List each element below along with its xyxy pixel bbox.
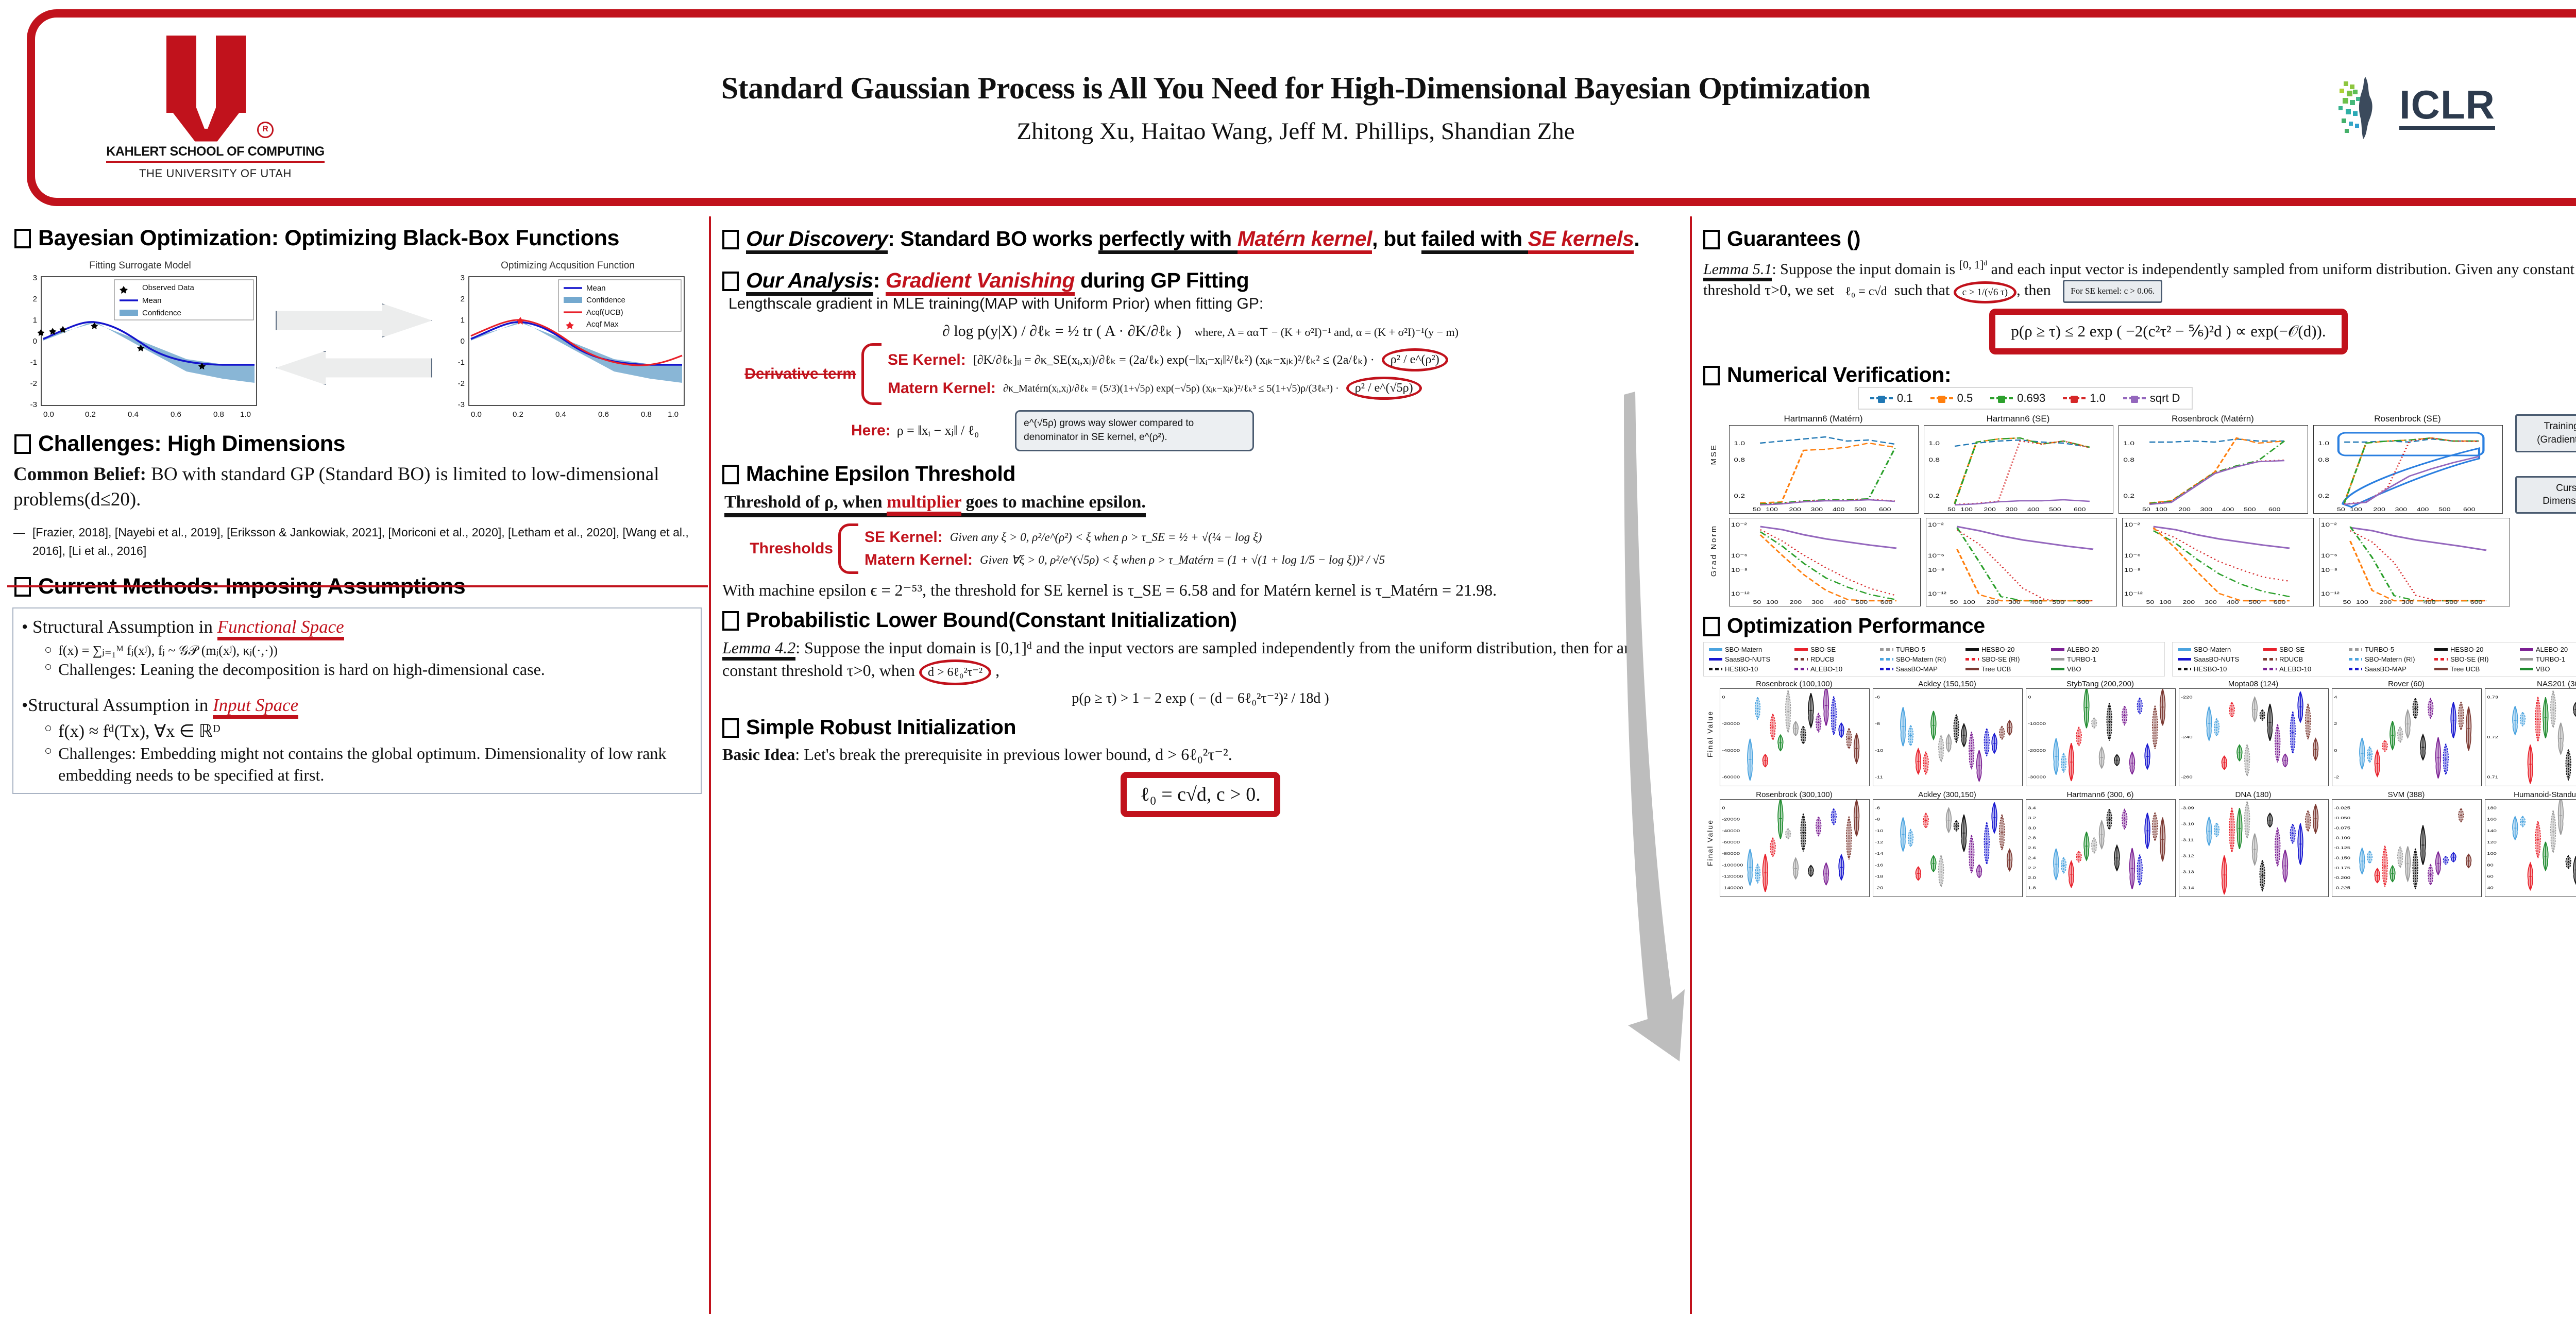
numerical-verification-figure: MSE Grad Norm Hartmann6 (Matérn) 1.00.80…	[1703, 414, 2576, 606]
opt-legend-item-8: SBO-SE (RI)	[1965, 655, 2043, 663]
optimization-violin-plot: 0-20000-40000-60000	[1720, 688, 1870, 786]
title-block: Standard Gaussian Process is All You Nee…	[324, 71, 2268, 145]
assumption1-challenge: Challenges: Leaning the decomposition is…	[58, 659, 545, 681]
svg-text:1.0: 1.0	[2123, 440, 2134, 446]
optimization-violin-plot: -220-240-260	[2179, 688, 2329, 786]
svg-text:10⁻²: 10⁻²	[2320, 521, 2336, 528]
flow-arrow-icon	[1623, 392, 1710, 1072]
lemma42-equation: p(ρ ≥ τ) > 1 − 2 exp ( − (d − 6ℓ₀²τ⁻²)² …	[722, 689, 1679, 707]
discovery-t3: , but	[1372, 227, 1421, 250]
svg-text:200: 200	[1984, 506, 1996, 512]
derivative-brace-icon	[861, 343, 882, 405]
optimization-chart-title: DNA (180)	[2179, 790, 2328, 799]
legend-swatch-icon	[1965, 648, 1979, 651]
legend-label: TURBO-5	[1896, 646, 1925, 653]
optimization-chart-cell: Mopta08 (124)-220-240-260	[2179, 680, 2328, 786]
nv-legend-item-2: 0.693	[1990, 392, 2045, 405]
legend-swatch-icon	[2349, 658, 2362, 661]
svg-text:50: 50	[1753, 599, 1761, 605]
svg-text:200: 200	[2183, 599, 2195, 605]
opt-legend-item-7: SBO-Matern (RI)	[2349, 655, 2426, 663]
svg-text:0: 0	[33, 337, 37, 346]
guarantee-equation-box: p(ρ ≥ τ) ≤ 2 exp ( −2(c²τ² − ⅚)²d ) ∝ ex…	[1989, 309, 2347, 354]
nv-row-gradnorm: 10⁻²10⁻⁶10⁻⁸10⁻¹² 50100200300400500600 1…	[1729, 518, 2576, 606]
svg-text:0: 0	[1722, 695, 1725, 699]
legend-label: SBO-Matern	[1725, 646, 1762, 653]
svg-text:1.0: 1.0	[240, 410, 251, 419]
svg-text:-11: -11	[1875, 775, 1883, 779]
optimization-chart-title: StybTang (200,200)	[2026, 680, 2175, 688]
nv-panel-mse-0: 1.00.80.2 50100200300400500600	[1729, 425, 1919, 514]
legend-label: Tree UCB	[1981, 665, 2011, 673]
nv-ylabel-gradnorm: Grad Norm	[1709, 525, 1718, 577]
nv-panel-title-2: Rosenbrock (Matérn)	[2119, 414, 2307, 424]
discovery-t2: perfectly with	[1098, 227, 1238, 254]
section-bullet-icon	[722, 718, 739, 738]
svg-text:10⁻¹²: 10⁻¹²	[2320, 590, 2340, 597]
assumption2-challenge-row: ○ Challenges: Embedding might not contai…	[44, 743, 692, 786]
iclr-wordmark: ICLR	[2399, 86, 2495, 129]
svg-text:-0.150: -0.150	[2334, 856, 2350, 860]
left-column: Bayesian Optimization: Optimizing Black-…	[7, 216, 707, 1314]
opt-legend-item-3: HESBO-20	[1965, 646, 2043, 653]
gradient-equation-row: ∂ log p(y|X) / ∂ℓₖ = ½ tr ( A · ∂K/∂ℓₖ )…	[722, 322, 1679, 340]
legend-swatch-icon	[1880, 668, 1893, 670]
svg-text:50: 50	[2146, 599, 2154, 605]
legend-swatch-icon	[2434, 658, 2448, 661]
svg-text:0.6: 0.6	[598, 410, 609, 419]
svg-text:10⁻²: 10⁻²	[1927, 521, 1943, 528]
svg-text:0.0: 0.0	[471, 410, 482, 419]
here-label: Here:	[851, 422, 891, 439]
legend-swatch-icon	[2434, 668, 2448, 670]
legend-swatch-icon	[1709, 668, 1722, 670]
svg-text:-6: -6	[1875, 695, 1880, 699]
references-text: [Frazier, 2018], [Nayebi et al., 2019], …	[32, 523, 699, 560]
legend-swatch-icon	[2051, 658, 2064, 661]
svg-text:10⁻⁶: 10⁻⁶	[2320, 552, 2337, 559]
nv-panel-title-0: Hartmann6 (Matérn)	[1729, 414, 1918, 424]
matern-kernel-equation: ∂κ_Matérn(xᵢ,xⱼ)/∂ℓₖ = (5/3)(1+√5ρ) exp(…	[1003, 382, 1339, 395]
svg-text:-60000: -60000	[1722, 840, 1740, 844]
optimization-legends: SBO-MaternSBO-SETURBO-5HESBO-20ALEBO-20S…	[1703, 642, 2576, 677]
assumption1-emphasis: Functional Space	[217, 617, 344, 640]
svg-text:400: 400	[2423, 599, 2435, 605]
right-column: Guarantees () Lemma 5.1: Suppose the inp…	[1694, 216, 2576, 1314]
gradient-where: where, A = αα⊤ − (K + σ²I)⁻¹ and, α = (K…	[1195, 326, 1459, 339]
legend-label: Tree UCB	[2450, 665, 2480, 673]
svg-text:200: 200	[2178, 506, 2191, 512]
section-our-analysis-title: Our Analysis: Gradient Vanishing during …	[722, 268, 1679, 293]
optimization-violin-plot: -3.09-3.10-3.11-3.12-3.13-3.14	[2179, 799, 2329, 897]
legend-swatch-icon	[2178, 658, 2191, 661]
arrow-right-icon	[276, 303, 432, 337]
svg-text:-0.025: -0.025	[2334, 806, 2350, 810]
svg-text:60: 60	[2487, 874, 2493, 878]
legend-label: SBO-SE	[2279, 646, 2304, 653]
svg-text:10⁻⁸: 10⁻⁸	[2320, 567, 2337, 573]
opt-legend-item-11: ALEBO-10	[2263, 665, 2341, 673]
svg-text:0: 0	[1722, 806, 1725, 810]
sub-bullet-icon: ○	[44, 743, 52, 786]
svg-text:500: 500	[2244, 506, 2256, 512]
svg-text:200: 200	[2373, 506, 2385, 512]
optimization-violin-plot: 0.730.720.71	[2485, 688, 2576, 786]
acquisition-plot: 32 10 -1-2 -3 0.00.20.4 0.60.81.0 Me	[444, 274, 691, 428]
section-simple-robust-init-title: Simple Robust Initialization	[722, 715, 1679, 739]
legend-swatch-icon	[1965, 658, 1979, 661]
guarantee-equation-wrap: p(ρ ≥ τ) ≤ 2 exp ( −2(c²τ² − ⅚)²d ) ∝ ex…	[1703, 309, 2576, 354]
svg-text:-80000: -80000	[1722, 852, 1740, 856]
legend-swatch-icon	[1880, 658, 1893, 661]
legend-acqf-max: Acqf Max	[586, 320, 619, 329]
nv-legend-item-3: 1.0	[2063, 392, 2106, 405]
svg-text:0.0: 0.0	[43, 410, 54, 419]
nv-legend-item-4: sqrt D	[2123, 392, 2180, 405]
assumption1-challenge-row: ○ Challenges: Leaning the decomposition …	[44, 659, 692, 681]
svg-text:-3.11: -3.11	[2181, 838, 2194, 842]
svg-text:-6: -6	[1875, 806, 1880, 810]
svg-text:10⁻⁸: 10⁻⁸	[2124, 567, 2141, 573]
common-belief-text: Common Belief: BO with standard GP (Stan…	[13, 462, 699, 512]
analysis-t2: during GP Fitting	[1075, 268, 1249, 292]
assumption1-lead: Structural Assumption in	[32, 617, 217, 637]
poster-header: R KAHLERT SCHOOL OF COMPUTING THE UNIVER…	[27, 9, 2576, 206]
optimization-violin-plot: 3.43.23.02.82.62.42.22.01.8	[2026, 799, 2176, 897]
legend-label: SBO-Matern	[2194, 646, 2231, 653]
assumption2-emphasis: Input Space	[213, 695, 298, 719]
discovery-t5: .	[1634, 227, 1639, 250]
bo-loop-arrows	[269, 303, 439, 385]
opt-legend-item-6: RDUCB	[1794, 655, 1872, 663]
fitting-surrogate-chart-title: Fitting Surrogate Model	[16, 260, 264, 272]
section-bayesian-optimization-title: Bayesian Optimization: Optimizing Black-…	[14, 226, 707, 251]
svg-text:100: 100	[1963, 599, 1975, 605]
section-bullet-icon	[722, 611, 739, 631]
threshold-statement: Threshold of ρ, when multiplier goes to …	[724, 493, 1679, 517]
nv-panel-title-1: Hartmann6 (SE)	[1924, 414, 2112, 424]
threshold-matern-equation: Given ∀ξ > 0, ρ²/e^(√5ρ) < ξ when ρ > τ_…	[980, 553, 1385, 567]
svg-text:600: 600	[1879, 506, 1891, 512]
svg-text:-18: -18	[1875, 874, 1883, 878]
lemma42-text: : Suppose the input domain is [0,1]ᵈ and…	[722, 638, 1640, 679]
legend-label: SBO-Matern (RI)	[1896, 655, 1946, 663]
legend-label: SaasBO-NUTS	[2194, 655, 2239, 663]
lemma51-t1: : Suppose the input domain is	[1772, 261, 1959, 278]
svg-text:-0.075: -0.075	[2334, 826, 2350, 830]
discovery-t4: failed with	[1421, 227, 1528, 254]
lemma51-t3: such that	[1894, 282, 1950, 299]
threshold-l2: goes to machine epsilon.	[961, 493, 1146, 512]
assumption2-equation: f(x) ≈ fᵈ(Tx), ∀x ∈ ℝᴰ	[58, 720, 220, 743]
opt-legend-item-12: SaasBO-MAP	[1880, 665, 1957, 673]
svg-text:300: 300	[2200, 506, 2213, 512]
svg-text:0.8: 0.8	[2318, 456, 2329, 463]
legend-label: SaasBO-MAP	[1896, 665, 1938, 673]
sri-label: Basic Idea	[722, 745, 795, 764]
svg-text:50: 50	[1950, 599, 1958, 605]
optimization-chart-cell: Ackley (300,150)-6-8-10-12-14-16-18-20	[1873, 790, 2022, 897]
svg-text:50: 50	[1753, 506, 1761, 512]
opt-legend-item-1: SBO-SE	[2263, 646, 2341, 653]
opt-legend-item-14: VBO	[2520, 665, 2576, 673]
registered-trademark-icon: R	[257, 122, 274, 138]
legend-swatch-icon	[2263, 648, 2277, 651]
optimization-chart-cell: Hartmann6 (300, 6)3.43.23.02.82.62.42.22…	[2026, 790, 2175, 897]
sub-bullet-icon: ○	[44, 642, 52, 659]
opt-legend-item-7: SBO-Matern (RI)	[1880, 655, 1957, 663]
section-bullet-icon	[14, 229, 31, 248]
svg-text:-60000: -60000	[1722, 775, 1740, 779]
svg-text:0.72: 0.72	[2487, 735, 2498, 739]
svg-text:-3.12: -3.12	[2181, 854, 2194, 858]
legend-label: HESBO-20	[2450, 646, 2483, 653]
svg-text:500: 500	[2248, 599, 2261, 605]
svg-text:10⁻¹²: 10⁻¹²	[2124, 590, 2143, 597]
sri-equation-wrap: ℓ₀ = c√d, c > 0.	[722, 772, 1679, 817]
svg-text:-0.100: -0.100	[2334, 836, 2350, 840]
opt-legend-item-13: Tree UCB	[1965, 665, 2043, 673]
lemma51-t4: , then	[2016, 282, 2051, 299]
svg-text:-20000: -20000	[2028, 748, 2046, 752]
svg-text:-260: -260	[2181, 775, 2192, 779]
svg-text:-1: -1	[458, 358, 465, 367]
optimization-chart-row-2: Rosenbrock (300,100)0-20000-40000-60000-…	[1720, 790, 2576, 897]
legend-swatch-icon	[2520, 668, 2533, 670]
svg-text:0.2: 0.2	[85, 410, 96, 419]
svg-text:-20000: -20000	[1722, 722, 1740, 726]
opt-legend-item-13: Tree UCB	[2434, 665, 2512, 673]
assumption-input-space: •Structural Assumption in Input Space	[22, 694, 692, 717]
svg-text:10⁻⁶: 10⁻⁶	[1731, 552, 1748, 559]
svg-text:-16: -16	[1875, 863, 1883, 867]
svg-text:3: 3	[33, 274, 37, 282]
svg-text:0.2: 0.2	[2123, 493, 2134, 499]
optimization-chart-title: Rover (60)	[2332, 680, 2481, 688]
optimization-chart-cell: SVM (388)-0.025-0.050-0.075-0.100-0.125-…	[2332, 790, 2481, 897]
svg-text:-0.225: -0.225	[2334, 886, 2350, 890]
svg-text:0.8: 0.8	[1928, 456, 1940, 463]
poster-root: R KAHLERT SCHOOL OF COMPUTING THE UNIVER…	[0, 0, 2576, 1319]
threshold-se-equation: Given any ξ > 0, ρ²/e^(ρ²) < ξ when ρ > …	[950, 531, 1262, 544]
svg-text:500: 500	[2438, 506, 2451, 512]
svg-text:50: 50	[1947, 506, 1956, 512]
opt-legend-item-9: TURBO-1	[2051, 655, 2128, 663]
svg-text:-0.050: -0.050	[2334, 816, 2350, 820]
legend-observed-data: Observed Data	[142, 283, 195, 292]
svg-text:-40000: -40000	[1722, 828, 1740, 833]
matern-kernel-row: Matern Kernel: ∂κ_Matérn(xᵢ,xⱼ)/∂ℓₖ = (5…	[888, 377, 1679, 400]
svg-text:500: 500	[2049, 506, 2061, 512]
legend-swatch-icon	[1794, 648, 1808, 651]
legend-label: HESBO-10	[2194, 665, 2227, 673]
derivative-term-label: Derivative term	[722, 365, 861, 383]
legend-label: SaasBO-NUTS	[1725, 655, 1770, 663]
svg-text:50: 50	[2343, 599, 2351, 605]
optimization-chart-title: Hartmann6 (300, 6)	[2026, 790, 2175, 799]
legend-confidence: Confidence	[142, 309, 181, 317]
nv-panel-grad-1: 10⁻²10⁻⁶10⁻⁸10⁻¹² 50100200300400500600	[1926, 518, 2117, 606]
svg-text:300: 300	[2006, 506, 2018, 512]
analysis-em: Gradient Vanishing	[886, 268, 1075, 296]
svg-text:1: 1	[33, 316, 37, 325]
svg-text:200: 200	[1986, 599, 1998, 605]
matern-kernel-label: Matern Kernel:	[888, 380, 996, 397]
assumption2-challenge: Challenges: Embedding might not contains…	[58, 743, 692, 786]
opt-legend-item-5: SaasBO-NUTS	[1709, 655, 1786, 663]
svg-text:160: 160	[2487, 817, 2497, 821]
iclr-logo: ICLR	[2268, 74, 2556, 141]
section-bullet-icon	[722, 272, 739, 291]
optimization-chart-cell: Ackley (150,150)-6-8-10-11	[1873, 680, 2022, 786]
references-list: — [Frazier, 2018], [Nayebi et al., 2019]…	[13, 523, 699, 560]
bo-loop-figure: Fitting Surrogate Model 32 10 -1-2 -3 0.…	[16, 260, 707, 428]
legend-swatch-icon	[2263, 668, 2277, 670]
svg-text:10⁻²: 10⁻²	[1731, 521, 1747, 528]
svg-text:-2: -2	[458, 379, 465, 388]
svg-text:0.4: 0.4	[128, 410, 139, 419]
legend-swatch-icon	[2434, 648, 2448, 651]
opt-legend-item-9: TURBO-1	[2520, 655, 2576, 663]
nv-panel-grad-2: 10⁻²10⁻⁶10⁻⁸10⁻¹² 50100200300400500600	[2122, 518, 2314, 606]
acquisition-chart: Optimizing Acqusition Function 32 10 -1-…	[444, 260, 691, 428]
svg-text:50: 50	[2142, 506, 2150, 512]
optimization-chart-cell: DNA (180)-3.09-3.10-3.11-3.12-3.13-3.14	[2179, 790, 2328, 897]
se-kernel-equation: [∂K/∂ℓₖ]ᵢⱼ = ∂κ_SE(xᵢ,xⱼ)/∂ℓₖ = (2a/ℓₖ) …	[973, 352, 1375, 367]
svg-text:140: 140	[2487, 828, 2497, 833]
svg-text:400: 400	[1833, 506, 1845, 512]
legend-label: HESBO-10	[1725, 665, 1758, 673]
svg-text:-10000: -10000	[2028, 722, 2046, 726]
svg-text:400: 400	[2417, 506, 2429, 512]
sri-equation-box: ℓ₀ = c√d, c > 0.	[1121, 772, 1280, 817]
legend-swatch-icon	[1709, 648, 1722, 651]
utah-u-icon: R	[166, 36, 264, 141]
svg-text:40: 40	[2487, 886, 2493, 890]
lemma51-set-equation: ℓ₀ = c√d	[1845, 285, 1887, 298]
svg-text:180: 180	[2487, 806, 2497, 810]
threshold-matern-label: Matern Kernel:	[865, 551, 973, 569]
sri-basic-idea: Basic Idea: Let's break the prerequisite…	[722, 743, 1679, 766]
svg-text:2.0: 2.0	[2028, 876, 2036, 880]
optimization-chart-title: Ackley (300,150)	[1873, 790, 2022, 799]
svg-text:400: 400	[2030, 599, 2042, 605]
analysis-subtext: Lengthscale gradient in MLE training(MAP…	[728, 295, 1679, 313]
svg-text:-0.125: -0.125	[2334, 846, 2350, 850]
svg-text:10⁻⁶: 10⁻⁶	[1927, 552, 1944, 559]
section-bullet-icon	[14, 434, 31, 454]
svg-text:0.2: 0.2	[2318, 493, 2329, 499]
svg-text:100: 100	[1960, 506, 1973, 512]
svg-text:0.4: 0.4	[555, 410, 566, 419]
svg-text:300: 300	[2395, 506, 2408, 512]
legend-confidence-2: Confidence	[586, 296, 625, 305]
analysis-t1: :	[873, 268, 886, 292]
legend-label: VBO	[2067, 665, 2081, 673]
discovery-em1: Matérn kernel	[1238, 227, 1372, 254]
section-bullet-icon	[722, 230, 739, 249]
svg-text:600: 600	[2470, 599, 2482, 605]
svg-text:-10: -10	[1875, 828, 1883, 833]
svg-text:-0.200: -0.200	[2334, 876, 2350, 880]
optimization-chart-title: Mopta08 (124)	[2179, 680, 2328, 688]
svg-text:-3.09: -3.09	[2181, 806, 2194, 810]
legend-label: ALEBO-10	[1810, 665, 1842, 673]
discovery-em2: SE kernels	[1528, 227, 1634, 254]
svg-text:2: 2	[2334, 722, 2337, 726]
legend-swatch-icon	[1965, 668, 1979, 670]
epsilon-conclusion: With machine epsilon ϵ = 2⁻⁵³, the thres…	[722, 579, 1679, 601]
optimization-violin-plot: -0.025-0.050-0.075-0.100-0.125-0.150-0.1…	[2332, 799, 2482, 897]
threshold-se-label: SE Kernel:	[865, 529, 943, 546]
svg-text:100: 100	[2155, 506, 2167, 512]
svg-text:600: 600	[2074, 506, 2086, 512]
acquisition-chart-title: Optimizing Acqusition Function	[444, 260, 691, 272]
legend-swatch-icon	[1794, 658, 1808, 661]
fitting-surrogate-chart: Fitting Surrogate Model 32 10 -1-2 -3 0.…	[16, 260, 264, 428]
svg-text:0.73: 0.73	[2487, 695, 2498, 699]
fitting-surrogate-plot: 32 10 -1-2 -3 0.00.20.4 0.60.81.0	[16, 274, 264, 428]
here-equation: ρ = ‖xᵢ − xⱼ‖ / ℓ₀	[897, 423, 979, 438]
svg-text:500: 500	[1855, 599, 1868, 605]
svg-text:-14: -14	[1875, 852, 1883, 856]
svg-text:0.71: 0.71	[2487, 775, 2498, 779]
svg-text:0.8: 0.8	[2123, 456, 2134, 463]
svg-text:-3.10: -3.10	[2181, 822, 2194, 826]
svg-text:500: 500	[2052, 599, 2064, 605]
legend-swatch-icon	[2349, 668, 2362, 670]
svg-text:0.2: 0.2	[1734, 493, 1745, 499]
optimization-chart-title: Ackley (150,150)	[1873, 680, 2022, 688]
section-optimization-performance-title: Optimization Performance	[1703, 614, 2576, 638]
utah-logo: R KAHLERT SCHOOL OF COMPUTING THE UNIVER…	[107, 36, 324, 180]
svg-text:10⁻⁶: 10⁻⁶	[2124, 552, 2141, 559]
svg-text:600: 600	[2463, 506, 2476, 512]
svg-text:10⁻⁸: 10⁻⁸	[1927, 567, 1944, 573]
section-bullet-icon	[722, 465, 739, 484]
opt-legend-item-4: ALEBO-20	[2051, 646, 2128, 653]
optimization-chart-cell: Rosenbrock (300,100)0-20000-40000-60000-…	[1720, 790, 1869, 897]
svg-text:3.4: 3.4	[2028, 806, 2036, 810]
svg-text:1.0: 1.0	[1928, 440, 1940, 446]
svg-text:1.8: 1.8	[2028, 886, 2036, 890]
svg-text:0: 0	[461, 337, 465, 346]
section-machine-epsilon-title: Machine Epsilon Threshold	[722, 462, 1679, 486]
left-divider	[7, 585, 708, 587]
svg-text:400: 400	[2227, 599, 2239, 605]
svg-text:-3.13: -3.13	[2181, 870, 2194, 874]
svg-text:400: 400	[1834, 599, 1846, 605]
svg-text:3.0: 3.0	[2028, 826, 2036, 830]
svg-text:1.0: 1.0	[2318, 440, 2329, 446]
svg-text:1: 1	[461, 316, 465, 325]
matern-kernel-highlight: ρ² / e^(√5ρ)	[1346, 377, 1422, 400]
legend-swatch-icon	[2178, 648, 2191, 651]
university-label: THE UNIVERSITY OF UTAH	[139, 167, 292, 180]
thresholds-block: Thresholds SE Kernel: Given any ξ > 0, ρ…	[722, 523, 1679, 574]
svg-text:-2: -2	[2334, 775, 2339, 779]
svg-text:10⁻²: 10⁻²	[2124, 521, 2140, 528]
assumptions-box: • Structural Assumption in Functional Sp…	[12, 607, 702, 794]
lemma51-condition: c > 1/(√6 τ)	[1954, 281, 2016, 304]
poster-title: Standard Gaussian Process is All You Nee…	[334, 71, 2258, 106]
optimization-legend-left: SBO-MaternSBO-SETURBO-5HESBO-20ALEBO-20S…	[1703, 642, 2165, 677]
nv-panel-mse-1: 1.00.80.2 50100200300400500600	[1924, 425, 2113, 514]
opt-legend-item-4: ALEBO-20	[2520, 646, 2576, 653]
svg-text:-1: -1	[30, 358, 37, 367]
svg-text:-0.175: -0.175	[2334, 866, 2350, 870]
svg-text:-140000: -140000	[1722, 886, 1743, 890]
